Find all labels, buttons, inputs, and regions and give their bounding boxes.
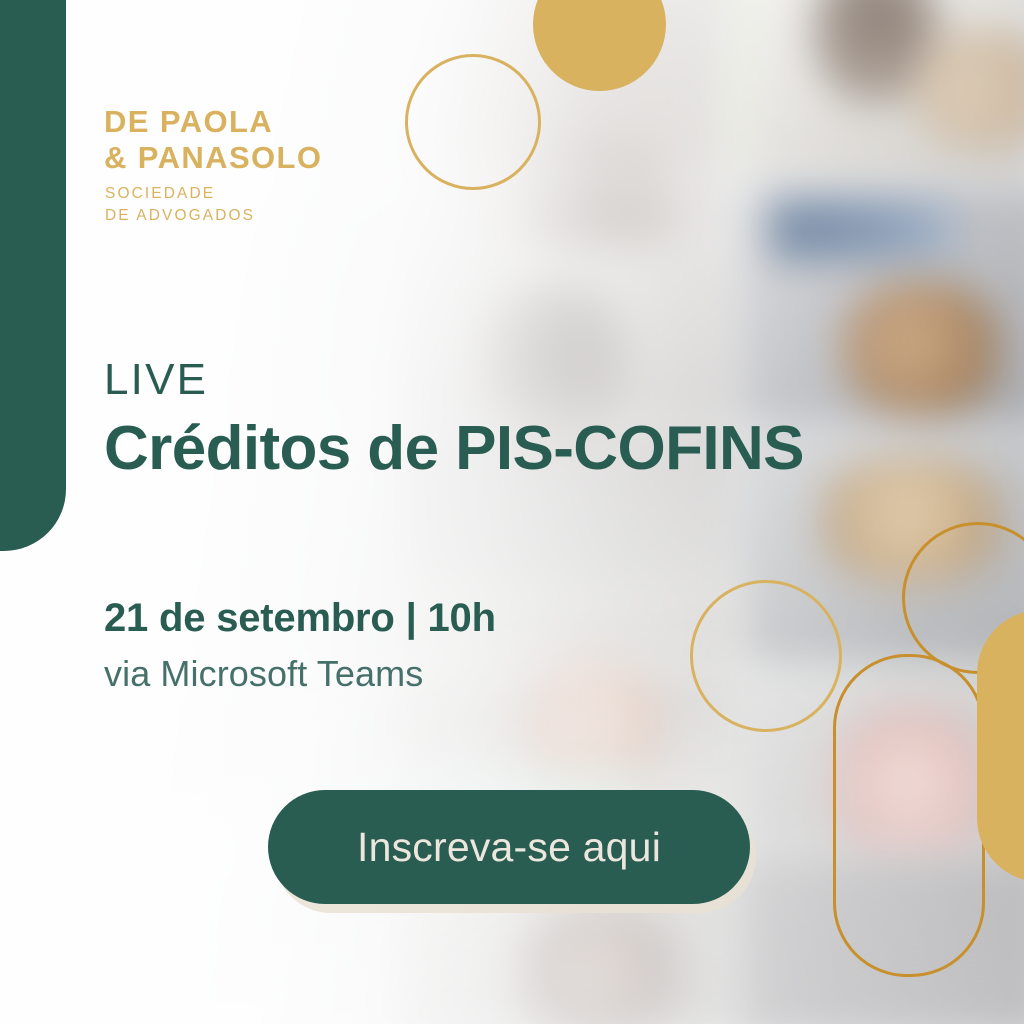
page-title: Créditos de PIS-COFINS (104, 418, 804, 480)
logo-name-line1: DE PAOLA (104, 104, 322, 140)
event-date-time: 21 de setembro | 10h (104, 598, 496, 638)
headline-block: LIVE Créditos de PIS-COFINS (104, 358, 804, 480)
logo-subtitle-line2: DE ADVOGADOS (105, 206, 322, 226)
event-type-kicker: LIVE (104, 358, 804, 402)
register-button[interactable]: Inscreva-se aqui (268, 790, 750, 904)
logo-subtitle-line1: SOCIEDADE (105, 184, 322, 204)
brand-logo: DE PAOLA & PANASOLO SOCIEDADE DE ADVOGAD… (104, 104, 322, 226)
logo-name-line2: & PANASOLO (104, 140, 322, 176)
promo-poster: DE PAOLA & PANASOLO SOCIEDADE DE ADVOGAD… (0, 0, 1024, 1024)
event-platform: via Microsoft Teams (104, 656, 496, 692)
event-details-block: 21 de setembro | 10h via Microsoft Teams (104, 598, 496, 692)
poster-content: DE PAOLA & PANASOLO SOCIEDADE DE ADVOGAD… (0, 0, 1024, 1024)
